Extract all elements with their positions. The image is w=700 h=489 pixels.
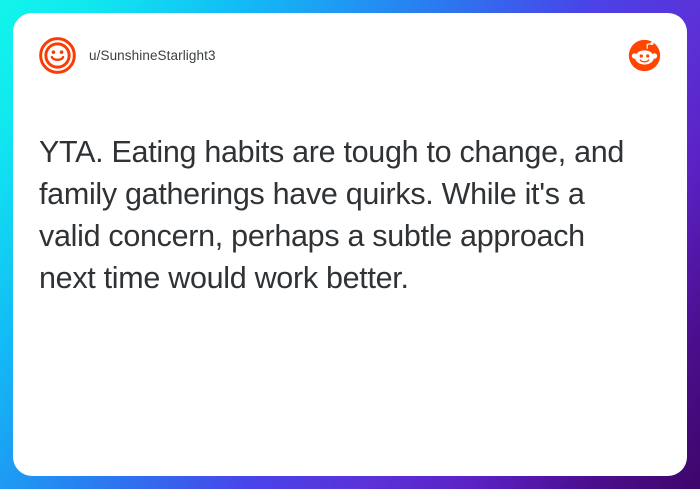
reddit-snoo-logo-icon[interactable]: [628, 39, 661, 72]
post-card: u/SunshineStarlight3: [13, 13, 687, 476]
post-header: u/SunshineStarlight3: [39, 35, 661, 75]
post-body: YTA. Eating habits are tough to change, …: [39, 75, 661, 454]
post-text: YTA. Eating habits are tough to change, …: [39, 131, 639, 299]
smiley-face-avatar-icon[interactable]: [39, 37, 76, 74]
gradient-background: u/SunshineStarlight3: [0, 0, 700, 489]
username-label: u/SunshineStarlight3: [89, 48, 216, 63]
